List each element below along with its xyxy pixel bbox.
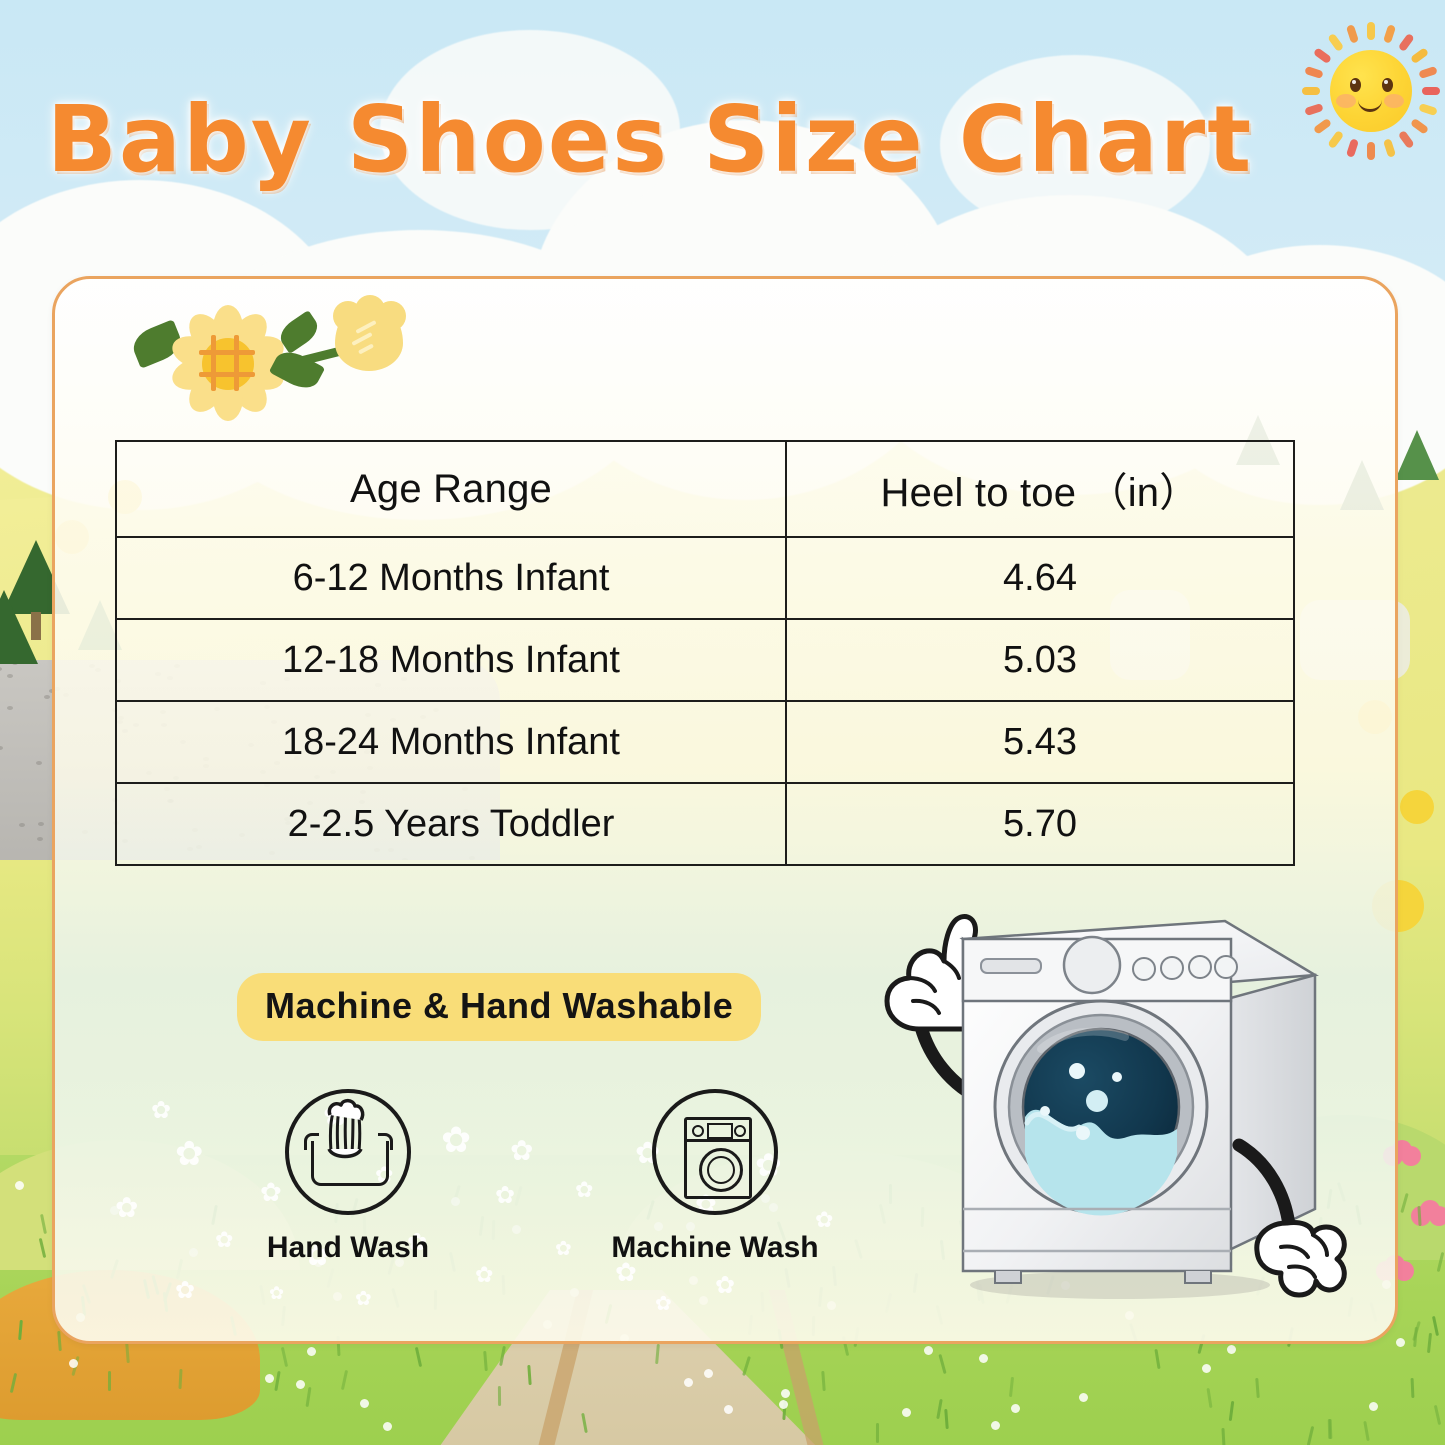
machine-dial: [1064, 937, 1120, 993]
rock-speckle: [37, 837, 43, 841]
hand-shape: [289, 1093, 407, 1211]
rock-speckle: [19, 823, 25, 827]
cell-age-range: 12-18 Months Infant: [116, 619, 786, 701]
small-white-flower: [1227, 1345, 1236, 1354]
small-white-flower: [684, 1378, 693, 1387]
bubble: [1040, 1106, 1050, 1116]
blossom-speck: ✿: [355, 1289, 372, 1309]
small-white-flower: [724, 1405, 733, 1414]
cell-heel-to-toe: 5.43: [786, 701, 1294, 783]
sun-ray: [1422, 87, 1440, 95]
yellow-flower: [1400, 790, 1434, 824]
sun-ray: [1383, 138, 1396, 158]
sun-ray: [1313, 118, 1332, 135]
rock-speckle: [44, 695, 50, 699]
table-header-row: Age Range Heel to toe （in）: [116, 441, 1294, 537]
sun-ray: [1398, 130, 1415, 149]
machine-door: [699, 1148, 743, 1192]
cell-heel-to-toe: 5.70: [786, 783, 1294, 865]
small-white-flower: [1202, 1364, 1211, 1373]
sun-ray: [1383, 24, 1396, 44]
machine-button: [1189, 956, 1211, 978]
machine-button: [1161, 957, 1183, 979]
blossom-speck: ✿: [215, 1229, 233, 1251]
small-white-flower: [1079, 1393, 1088, 1402]
flower-icon: [127, 283, 427, 423]
small-white-flower: [902, 1408, 911, 1417]
bubble: [1086, 1090, 1108, 1112]
sun-ray: [1302, 87, 1320, 95]
hand-wash-label: Hand Wash: [248, 1231, 448, 1265]
machine-side: [1227, 975, 1315, 1251]
cell-age-range: 2-2.5 Years Toddler: [116, 783, 786, 865]
hand-wash-item: Hand Wash: [248, 1089, 448, 1265]
sun-ray: [1327, 130, 1344, 149]
blossom-speck: ✿: [115, 1194, 138, 1222]
small-white-flower: [69, 1359, 78, 1368]
small-white-flower: [265, 1374, 274, 1383]
blossom-speck: ✿: [475, 1264, 493, 1286]
blossom-speck: ✿: [715, 1274, 735, 1298]
washing-machine-mascot: [845, 879, 1355, 1309]
small-white-flower: [360, 1399, 369, 1408]
small-white-flower: [1011, 1404, 1020, 1413]
rock-speckle: [7, 706, 13, 710]
blossom-speck: ✿: [175, 1279, 195, 1303]
sun-ray: [1304, 66, 1324, 79]
hand-wash-icon: [285, 1089, 411, 1215]
flower-center: [202, 338, 254, 390]
blossom-speck: ✿: [655, 1294, 672, 1314]
machine-knob: [692, 1125, 704, 1137]
grass-blade: [178, 1369, 182, 1389]
bubble: [1069, 1063, 1085, 1079]
table-row: 12-18 Months Infant 5.03: [116, 619, 1294, 701]
mascot-right-hand: [1257, 1222, 1344, 1295]
machine-wash-icon: [652, 1089, 778, 1215]
blossom-speck: ✿: [269, 1284, 284, 1302]
sun-ray: [1367, 22, 1375, 40]
sun-ray: [1398, 33, 1415, 52]
sun-ray: [1410, 118, 1429, 135]
grass-blade: [108, 1371, 111, 1391]
grass-blade: [497, 1386, 500, 1406]
blossom-speck: ✿: [175, 1137, 204, 1171]
machine-detergent-slot: [707, 1123, 733, 1139]
rock-speckle: [36, 761, 42, 765]
page-title: Baby Shoes Size Chart: [0, 86, 1300, 193]
pine-tree: [0, 590, 38, 664]
sun-eye: [1350, 78, 1361, 92]
sun-face: [1330, 50, 1412, 132]
machine-wash-item: Machine Wash: [600, 1089, 830, 1265]
sun-ray: [1418, 103, 1438, 116]
blossom-speck: ✿: [495, 1184, 515, 1208]
cell-heel-to-toe: 5.03: [786, 619, 1294, 701]
table-row: 2-2.5 Years Toddler 5.70: [116, 783, 1294, 865]
cell-heel-to-toe: 4.64: [786, 537, 1294, 619]
small-white-flower: [781, 1389, 790, 1398]
small-white-flower: [307, 1347, 316, 1356]
blossom-speck: ✿: [555, 1239, 572, 1259]
table-row: 6-12 Months Infant 4.64: [116, 537, 1294, 619]
sun-ray: [1418, 66, 1438, 79]
sun-ray: [1346, 138, 1359, 158]
small-white-flower: [15, 1181, 24, 1190]
sun-cheek: [1336, 94, 1356, 108]
pine-tree: [1395, 430, 1439, 480]
column-header-heel-to-toe: Heel to toe （in）: [786, 441, 1294, 537]
cell-age-range: 6-12 Months Infant: [116, 537, 786, 619]
small-white-flower: [296, 1380, 305, 1389]
machine-wash-label: Machine Wash: [600, 1231, 830, 1265]
sun-smile: [1358, 96, 1382, 112]
size-table: Age Range Heel to toe （in） 6-12 Months I…: [115, 440, 1295, 866]
washable-badge: Machine & Hand Washable: [237, 973, 761, 1041]
sun-ray: [1304, 103, 1324, 116]
machine-button: [1133, 958, 1155, 980]
rock-speckle: [7, 674, 13, 678]
pink-flower: [1420, 1200, 1440, 1220]
sun-ray: [1410, 47, 1429, 64]
machine-button: [1215, 956, 1237, 978]
size-chart-poster: ✿✿✿✿✿✿✿✿✿✿✿✿✿✿✿✿✿✿✿✿✿✿✿✿✿: [0, 0, 1445, 1445]
sun-cheek: [1384, 94, 1404, 108]
sun-ray: [1327, 33, 1344, 52]
sun-ray: [1346, 24, 1359, 44]
small-white-flower: [704, 1369, 713, 1378]
sun-eye: [1382, 78, 1393, 92]
sun-ray: [1367, 142, 1375, 160]
machine-drum: [707, 1156, 735, 1184]
machine-detergent-drawer: [981, 959, 1041, 973]
content-card: ✿✿✿✿✿✿✿✿✿✿✿✿✿✿✿✿✿✿✿✿✿✿✿✿✿: [52, 276, 1398, 1344]
small-white-flower: [991, 1421, 1000, 1430]
sun-icon: [1296, 16, 1445, 166]
blossom-speck: ✿: [151, 1099, 171, 1123]
cell-age-range: 18-24 Months Infant: [116, 701, 786, 783]
bubble: [1076, 1126, 1090, 1140]
machine-knob: [734, 1125, 746, 1137]
blossom-speck: ✿: [575, 1179, 593, 1201]
bubble: [1112, 1072, 1122, 1082]
column-header-age-range: Age Range: [116, 441, 786, 537]
grass-blade: [1328, 1419, 1331, 1439]
blossom-speck: ✿: [510, 1137, 533, 1165]
rock-speckle: [0, 746, 3, 750]
table-row: 18-24 Months Infant 5.43: [116, 701, 1294, 783]
rock-speckle: [38, 822, 44, 826]
rock-speckle: [0, 667, 2, 671]
machine-body: [684, 1117, 752, 1199]
machine-panel: [687, 1120, 749, 1142]
grass-blade: [1410, 1378, 1414, 1398]
sun-ray: [1313, 47, 1332, 64]
